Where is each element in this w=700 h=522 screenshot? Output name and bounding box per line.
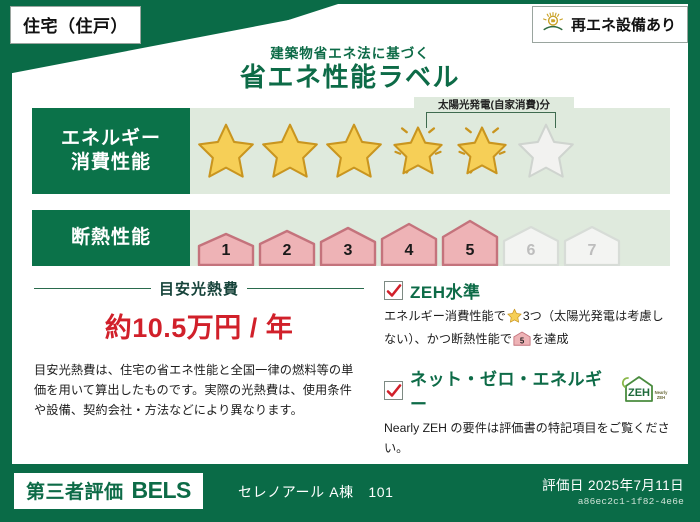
heading-rule-right — [247, 288, 364, 290]
net-zero-energy-title: ネット・ゼロ・エネルギー — [410, 365, 613, 415]
star-icon — [507, 312, 522, 326]
star-1 — [196, 120, 258, 182]
evaluation-date: 評価日 2025年7月11日 — [542, 474, 684, 494]
zeh-desc-part3: を達成 — [532, 332, 569, 346]
solar-bracket — [426, 112, 556, 128]
utility-cost-block: 目安光熱費 約10.5万円 / 年 目安光熱費は、住宅の省エネ性能と全国一律の燃… — [34, 278, 364, 420]
energy-performance-body: 太陽光発電(自家消費)分 — [190, 108, 670, 194]
svg-text:ZEH: ZEH — [657, 395, 665, 400]
insulation-scale: 1 2 3 4 5 — [190, 210, 622, 266]
solar-note-label: 太陽光発電(自家消費)分 — [414, 97, 574, 112]
star-2 — [260, 120, 322, 182]
house-5-icon: 5 — [513, 335, 531, 349]
zeh-standard-header: ZEH水準 — [384, 278, 672, 303]
insulation-level-4: 4 — [379, 222, 439, 266]
insulation-level-1-number: 1 — [196, 242, 256, 260]
zeh-desc-part1: エネルギー消費性能で — [384, 309, 506, 323]
zeh-column: ZEH水準 エネルギー消費性能で3つ（太陽光発電は考慮しない）、かつ断熱性能で5… — [384, 278, 672, 471]
insulation-level-3-number: 3 — [318, 242, 378, 260]
zeh-standard-checkbox[interactable] — [384, 281, 403, 300]
utility-cost-heading-text: 目安光熱費 — [159, 278, 239, 299]
zeh-logo: ZEH Nearly ZEH — [620, 373, 672, 408]
title-subtitle: 建築物省エネ法に基づく — [0, 42, 700, 62]
zeh-standard-title: ZEH水準 — [410, 278, 481, 303]
house-type-label: 住宅（住戸） — [23, 17, 128, 36]
utility-cost-heading: 目安光熱費 — [34, 278, 364, 299]
house-type-chip: 住宅（住戸） — [10, 6, 141, 44]
svg-text:ZEH: ZEH — [628, 387, 650, 399]
label-frame: 住宅（住戸） 再エネ設備あり 建築物省エネ法に基づく 省 — [0, 0, 700, 522]
energy-label-line1: エネルギー — [61, 127, 161, 151]
evaluation-info: 評価日 2025年7月11日 a86ec2c1-1f82-4e6e — [542, 474, 684, 507]
insulation-level-7: 7 — [562, 224, 622, 266]
star-3 — [324, 120, 386, 182]
heading-rule-left — [34, 288, 151, 290]
check-icon — [386, 283, 402, 299]
insulation-performance-row: 断熱性能 1 2 3 — [32, 210, 670, 266]
insulation-level-5: 5 — [440, 219, 500, 266]
net-zero-energy-description: Nearly ZEH の要件は評価書の特記項目をご覧ください。 — [384, 419, 672, 458]
title-main: 省エネ性能ラベル — [0, 63, 700, 92]
star-rating — [190, 120, 670, 182]
net-zero-energy-item: ネット・ゼロ・エネルギー ZEH Nearly ZEH Nearly ZEH の… — [384, 365, 672, 458]
evaluation-id: a86ec2c1-1f82-4e6e — [542, 496, 684, 507]
bels-chip: 第三者評価 BELS — [14, 473, 203, 509]
insulation-level-1: 1 — [196, 232, 256, 266]
insulation-level-6-number: 6 — [501, 242, 561, 260]
zeh-standard-item: ZEH水準 エネルギー消費性能で3つ（太陽光発電は考慮しない）、かつ断熱性能で5… — [384, 278, 672, 352]
bels-chip-en: BELS — [132, 477, 191, 504]
insulation-level-2-number: 2 — [257, 242, 317, 260]
check-icon — [386, 383, 402, 399]
energy-performance-row: エネルギー 消費性能 太陽光発電(自家消費)分 — [32, 108, 670, 194]
star-4-solar — [388, 120, 450, 182]
net-zero-energy-header: ネット・ゼロ・エネルギー ZEH Nearly ZEH — [384, 365, 672, 415]
star-5-solar — [452, 120, 514, 182]
utility-cost-description: 目安光熱費は、住宅の省エネ性能と全国一律の燃料等の単価を用いて算出したものです。… — [34, 361, 364, 420]
label-footer: 第三者評価 BELS セレノアール A棟 101 評価日 2025年7月11日 … — [0, 464, 700, 522]
net-zero-energy-checkbox[interactable] — [384, 381, 403, 400]
insulation-level-3: 3 — [318, 226, 378, 266]
sun-icon — [541, 11, 565, 37]
zeh-standard-description: エネルギー消費性能で3つ（太陽光発電は考慮しない）、かつ断熱性能で5を達成 — [384, 307, 672, 352]
insulation-level-4-number: 4 — [379, 242, 439, 260]
utility-cost-value: 約10.5万円 / 年 — [34, 306, 364, 345]
star-6-empty — [516, 120, 578, 182]
energy-label-line2: 消費性能 — [71, 151, 151, 175]
insulation-level-5-number: 5 — [440, 242, 500, 260]
energy-performance-label: エネルギー 消費性能 — [32, 108, 190, 194]
renewable-energy-chip: 再エネ設備あり — [532, 6, 688, 43]
insulation-performance-body: 1 2 3 4 5 — [190, 210, 670, 266]
insulation-level-7-number: 7 — [562, 242, 622, 260]
svg-text:5: 5 — [520, 336, 525, 345]
insulation-performance-label: 断熱性能 — [32, 210, 190, 266]
renewable-energy-label: 再エネ設備あり — [571, 14, 676, 35]
insulation-level-6: 6 — [501, 224, 561, 266]
label-title: 建築物省エネ法に基づく 省エネ性能ラベル — [0, 42, 700, 92]
building-name: セレノアール A棟 101 — [238, 482, 394, 502]
label-card: エネルギー 消費性能 太陽光発電(自家消費)分 — [12, 100, 688, 464]
insulation-label-text: 断熱性能 — [71, 226, 151, 250]
bels-chip-jp: 第三者評価 — [26, 477, 124, 504]
insulation-level-2: 2 — [257, 229, 317, 266]
